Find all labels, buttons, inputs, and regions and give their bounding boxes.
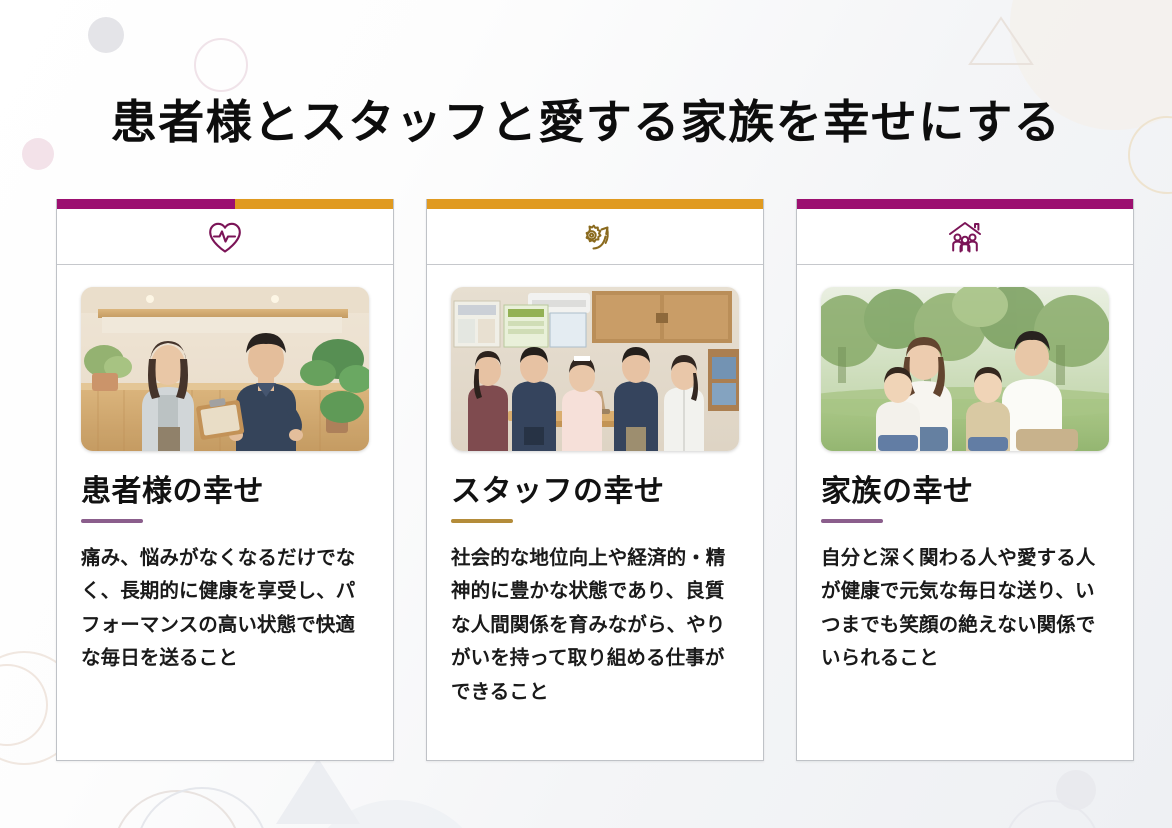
card-photo-wrap-staff xyxy=(427,265,763,451)
gear-arrow-up-icon xyxy=(576,220,614,254)
decor-triangle-bottom-left xyxy=(272,752,364,828)
card-icon-row-family xyxy=(797,209,1133,265)
card-body-staff: スタッフの幸せ 社会的な地位向上や経済的・精神的に豊かな状態であり、良質な人間関… xyxy=(427,451,763,760)
card-body-family: 家族の幸せ 自分と深く関わる人や愛する人が健康で元気な毎日な送り、いつまでも笑顔… xyxy=(797,451,1133,760)
happiness-card-row: 患者様の幸せ 痛み、悩みがなくなるだけでなく、長期的に健康を享受し、パフォーマン… xyxy=(56,199,1134,761)
card-photo-wrap-patient xyxy=(57,265,393,451)
heart-pulse-icon xyxy=(207,220,243,254)
decor-ring-bottom-left-2 xyxy=(132,784,272,828)
decor-triangle-top-right xyxy=(966,14,1036,70)
card-photo-wrap-family xyxy=(797,265,1133,451)
patient-consultation-photo xyxy=(81,287,369,451)
topbar-segment-orange xyxy=(427,199,763,209)
card-icon-row-patient xyxy=(57,209,393,265)
family-park-photo xyxy=(821,287,1109,451)
page-title: 患者様とスタッフと愛する家族を幸せにする xyxy=(0,86,1172,152)
topbar-segment-orange xyxy=(235,199,393,209)
card-heading-patient: 患者様の幸せ xyxy=(81,475,369,510)
card-topbar-patient xyxy=(57,199,393,209)
card-topbar-family xyxy=(797,199,1133,209)
card-topbar-staff xyxy=(427,199,763,209)
decor-dot-gray-top-left xyxy=(88,17,124,53)
card-family-happiness[interactable]: 家族の幸せ 自分と深く関わる人や愛する人が健康で元気な毎日な送り、いつまでも笑顔… xyxy=(796,199,1134,761)
card-heading-underline-staff xyxy=(451,519,513,523)
card-heading-family: 家族の幸せ xyxy=(821,475,1109,510)
card-body-patient: 患者様の幸せ 痛み、悩みがなくなるだけでなく、長期的に健康を享受し、パフォーマン… xyxy=(57,451,393,760)
staff-meeting-photo xyxy=(451,287,739,451)
card-heading-underline-patient xyxy=(81,519,143,523)
family-house-icon xyxy=(945,220,985,254)
card-patient-happiness[interactable]: 患者様の幸せ 痛み、悩みがなくなるだけでなく、長期的に健康を享受し、パフォーマン… xyxy=(56,199,394,761)
card-staff-happiness[interactable]: スタッフの幸せ 社会的な地位向上や経済的・精神的に豊かな状態であり、良質な人間関… xyxy=(426,199,764,761)
card-heading-underline-family xyxy=(821,519,883,523)
topbar-segment-purple xyxy=(797,199,1133,209)
decor-ring-top-left xyxy=(194,38,248,92)
card-text-patient: 痛み、悩みがなくなるだけでなく、長期的に健康を享受し、パフォーマンスの高い状態で… xyxy=(81,541,369,675)
card-icon-row-staff xyxy=(427,209,763,265)
card-text-family: 自分と深く関わる人や愛する人が健康で元気な毎日な送り、いつまでも笑顔の絶えない関… xyxy=(821,541,1109,675)
card-heading-staff: スタッフの幸せ xyxy=(451,475,739,510)
topbar-segment-purple xyxy=(57,199,235,209)
card-text-staff: 社会的な地位向上や経済的・精神的に豊かな状態であり、良質な人間関係を育みながら、… xyxy=(451,541,739,709)
